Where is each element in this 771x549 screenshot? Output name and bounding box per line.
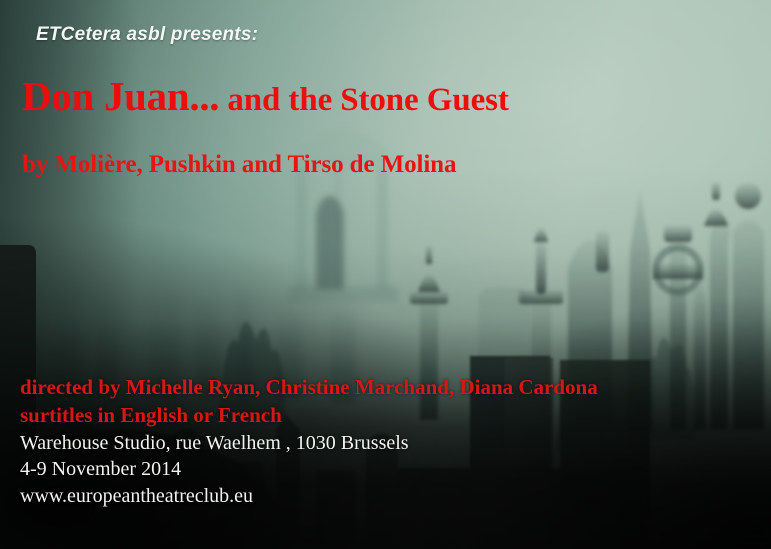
directors-line: directed by Michelle Ryan, Christine Mar… xyxy=(20,374,720,402)
dates-line: 4-9 November 2014 xyxy=(20,456,720,483)
venue-line: Warehouse Studio, rue Waelhem , 1030 Bru… xyxy=(20,430,720,457)
theatre-poster: ETCetera asbl presents: Don Juan... and … xyxy=(0,0,771,549)
title-subtitle: and the Stone Guest xyxy=(219,82,509,118)
credits-block: directed by Michelle Ryan, Christine Mar… xyxy=(20,374,720,510)
title-main: Don Juan... xyxy=(22,73,219,119)
surtitles-line: surtitles in English or French xyxy=(20,402,720,430)
website-line: www.europeantheatreclub.eu xyxy=(20,483,720,510)
domed-canopy-monument xyxy=(288,96,398,302)
statue-figure xyxy=(733,183,764,430)
poster-title: Don Juan... and the Stone Guest xyxy=(22,76,509,117)
authors-line: by Molière, Pushkin and Tirso de Molina xyxy=(22,151,456,179)
presenter-line: ETCetera asbl presents: xyxy=(36,24,258,46)
